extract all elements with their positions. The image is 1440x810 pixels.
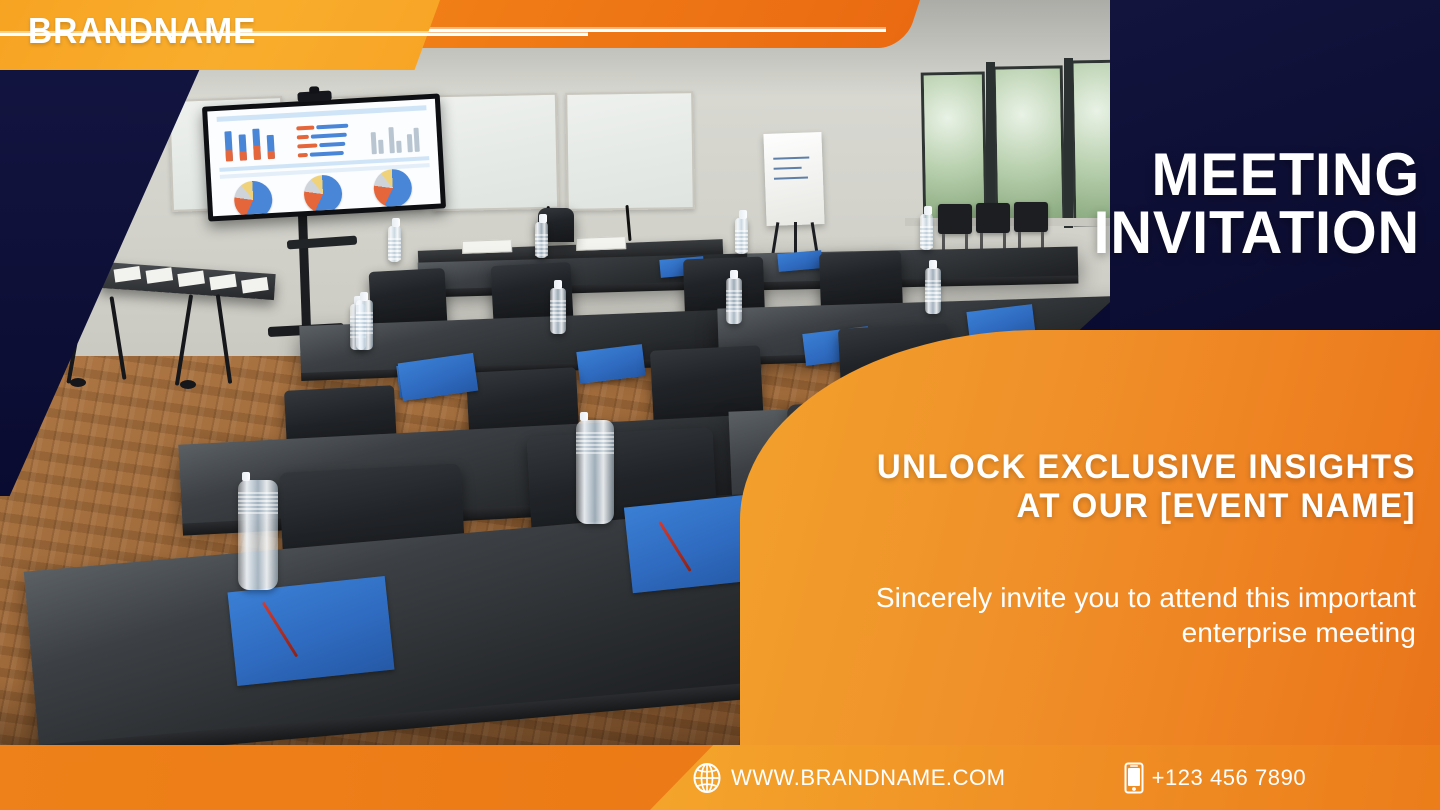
water-bottle: [356, 300, 373, 350]
footer-contact-group: WWW.BRANDNAME.COM +123 456 7890: [692, 745, 1306, 810]
pie-chart: [303, 174, 343, 214]
tagline-line-1: UNLOCK EXCLUSIVE INSIGHTS: [877, 448, 1416, 486]
name-plate: [576, 236, 626, 251]
flipchart: [763, 132, 824, 226]
webcam-icon: [297, 90, 332, 102]
name-plate: [462, 239, 512, 254]
water-bottle: [735, 218, 748, 254]
water-bottle: [388, 226, 401, 262]
whiteboard: [431, 93, 559, 212]
water-bottle: [550, 288, 566, 334]
tagline-line-2: AT OUR [EVENT NAME]: [853, 487, 1416, 526]
whiteboard: [565, 91, 695, 211]
pie-chart: [233, 180, 273, 216]
tagline: UNLOCK EXCLUSIVE INSIGHTS AT OUR [EVENT …: [853, 448, 1416, 527]
presentation-display: [202, 93, 446, 221]
water-bottle: [535, 222, 548, 258]
blue-folder: [228, 576, 395, 686]
subtext-line-1: Sincerely invite you to attend this impo…: [876, 582, 1416, 613]
water-bottle: [726, 278, 742, 324]
title-line-1: MEETING: [1152, 141, 1420, 208]
pie-chart: [373, 168, 413, 208]
water-bottle: [238, 480, 278, 590]
phone-label: +123 456 7890: [1152, 765, 1307, 791]
title-line-2: INVITATION: [844, 204, 1420, 262]
phone-icon: [1124, 762, 1144, 794]
chair: [369, 268, 448, 328]
page-title: MEETING INVITATION: [844, 146, 1420, 261]
message-orange-panel: [740, 330, 1440, 750]
water-bottle: [925, 268, 941, 314]
meeting-invitation-poster: MEETING INVITATION UNLOCK EXCLUSIVE INSI…: [0, 0, 1440, 810]
header-divider-line: [408, 29, 886, 32]
brand-logo-text[interactable]: BRANDNAME: [28, 10, 257, 52]
blue-folder: [777, 250, 822, 272]
globe-icon: [692, 762, 722, 794]
water-bottle: [576, 420, 614, 524]
subtext-line-2: enterprise meeting: [816, 615, 1416, 650]
website-label: WWW.BRANDNAME.COM: [731, 765, 1006, 791]
phone-contact[interactable]: +123 456 7890: [1124, 762, 1307, 794]
invitation-subtext: Sincerely invite you to attend this impo…: [816, 580, 1416, 651]
website-contact[interactable]: WWW.BRANDNAME.COM: [692, 762, 1006, 794]
footer-divider-line: [0, 33, 588, 36]
display-screen: [207, 99, 441, 217]
